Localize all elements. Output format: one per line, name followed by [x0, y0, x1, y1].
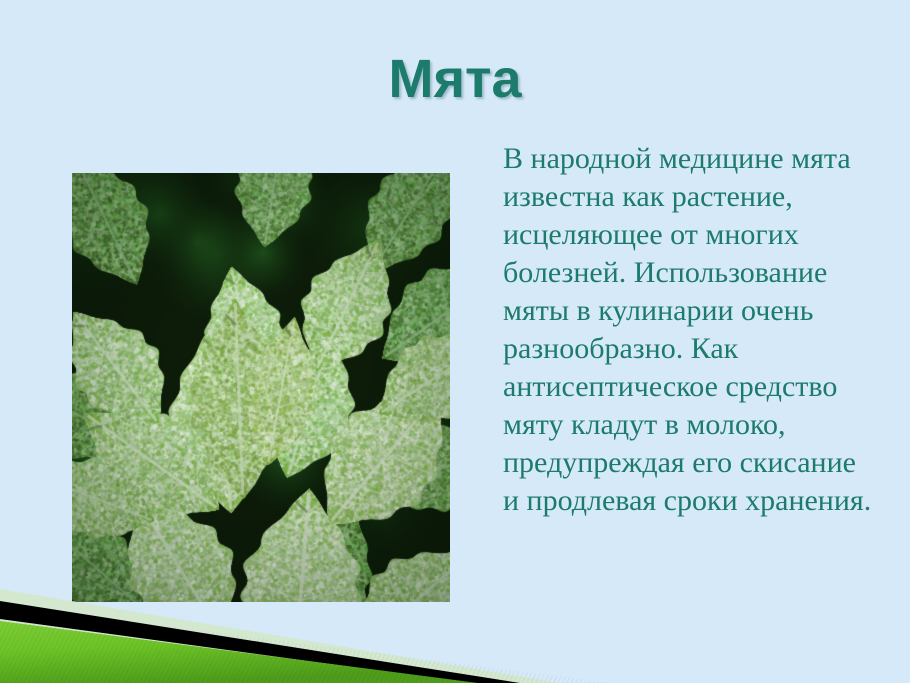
- slide-body-text: В народной медицине мята известна как ра…: [503, 140, 875, 520]
- slide-title: Мята: [0, 48, 910, 110]
- mint-photo-canvas: [72, 173, 450, 602]
- decor-band-mint: [0, 589, 560, 683]
- mint-photo: [72, 173, 450, 602]
- decor-band-black: [0, 601, 520, 683]
- decor-band-green: [0, 621, 478, 683]
- presentation-slide: Мята В народной медицине мята известна к…: [0, 0, 910, 683]
